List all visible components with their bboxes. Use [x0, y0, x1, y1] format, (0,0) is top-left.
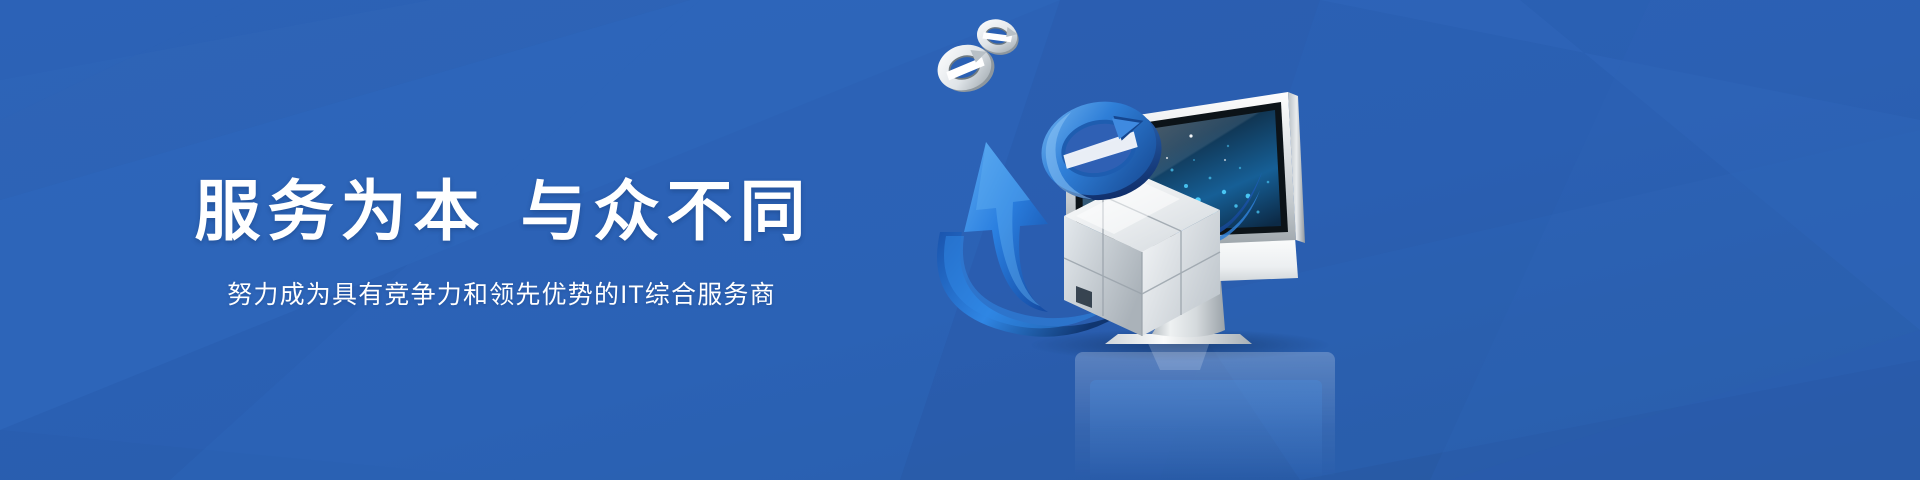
headline-part-1: 服务为本: [195, 174, 487, 248]
floor-reflection: [1030, 329, 1335, 480]
page-subtitle: 努力成为具有竞争力和领先优势的IT综合服务商: [224, 275, 776, 311]
page-title: 服务为本与众不同: [188, 175, 813, 249]
banner-copy: 服务为本与众不同 努力成为具有竞争力和领先优势的IT综合服务商: [0, 0, 1000, 480]
hero-banner: 服务为本与众不同 努力成为具有竞争力和领先优势的IT综合服务商: [0, 0, 1920, 480]
headline-part-2: 与众不同: [521, 174, 813, 248]
